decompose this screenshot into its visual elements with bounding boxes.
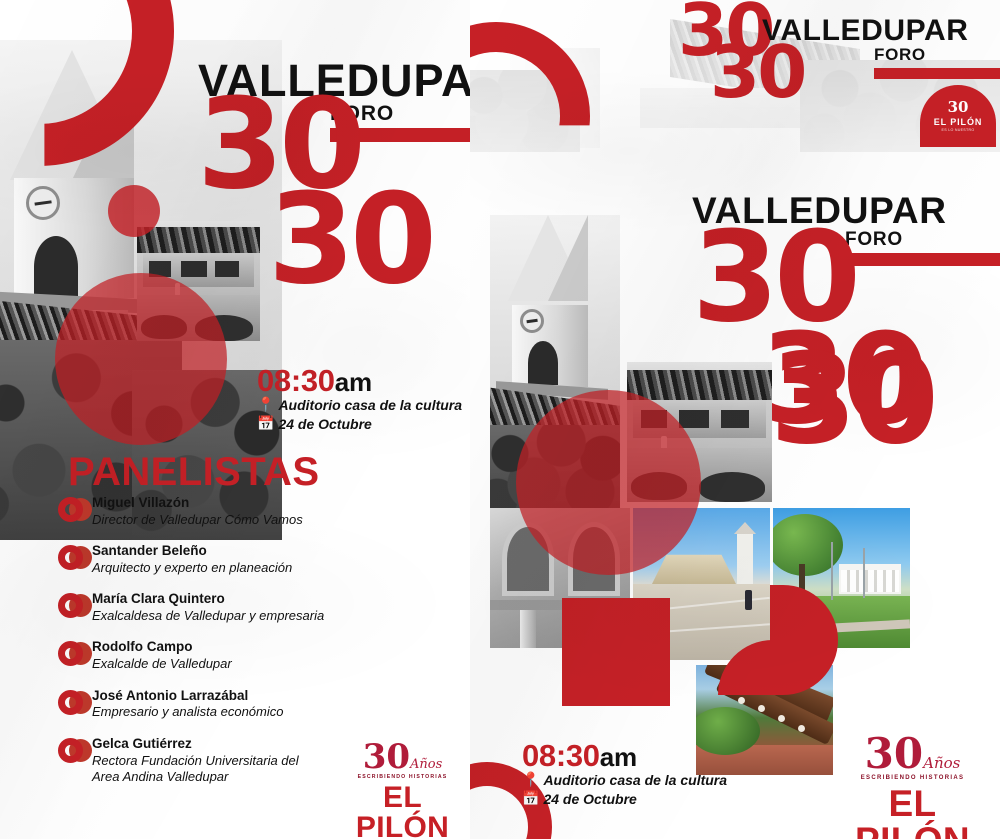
right-anniversary-collage: 30 xyxy=(770,350,934,450)
tower-window-arch xyxy=(34,236,78,298)
anniversary-number-bottom: 30 xyxy=(268,190,432,290)
right-el-pilon-logo: 30Años ESCRIBIENDO HISTORIAS EL PILÓN ES… xyxy=(840,735,985,839)
left-poster-panel: VALLEDUPAR FORO 30 30 08:30am 📍 Auditori… xyxy=(0,0,470,839)
banner-foro-label: FORO xyxy=(874,46,926,63)
event-venue-row: 📍 Auditorio casa de la cultura xyxy=(257,396,462,413)
right-event-time: 08:30am xyxy=(522,738,637,774)
bullet-ring-icon xyxy=(58,593,92,619)
pilon-hole xyxy=(798,725,805,732)
tower-clock-face xyxy=(26,186,60,220)
plaza-pedestrian xyxy=(745,590,752,610)
right-event-venue: Auditorio casa de la cultura xyxy=(543,772,727,788)
el-pilon-logo: 30Años ESCRIBIENDO HISTORIAS EL PILÓN ES… xyxy=(345,742,460,839)
event-time-suffix: am xyxy=(335,367,372,397)
panelist-role: Exalcaldesa de Valledupar y empresaria xyxy=(92,608,458,624)
bullet-ring-icon xyxy=(58,641,92,667)
market-awning xyxy=(137,227,260,253)
top-banner: 30 VALLEDUPAR 30 FORO 30 EL PILÓN ES LO … xyxy=(470,0,1000,152)
event-venue: Auditorio casa de la cultura xyxy=(278,397,462,413)
plaza-pavilion-roof xyxy=(651,552,737,586)
pilon-hole xyxy=(738,697,745,704)
collage-red-square xyxy=(562,598,670,706)
panelist-name: Rodolfo Campo xyxy=(92,639,458,656)
pilon-hole xyxy=(778,715,785,722)
banner-anniversary-bottom: 30 xyxy=(710,44,804,102)
park-colonnade xyxy=(841,570,899,592)
event-date-row: 📅 24 de Octubre xyxy=(257,415,372,432)
market-window xyxy=(215,261,239,277)
bullet-ring-icon xyxy=(58,545,92,571)
right-poster-panel: 30 VALLEDUPAR 30 FORO 30 EL PILÓN ES LO … xyxy=(470,0,1000,839)
bullet-ring-icon xyxy=(58,497,92,523)
list-item: Santander Beleño Arquitecto y experto en… xyxy=(58,543,458,576)
poster-canvas: VALLEDUPAR FORO 30 30 08:30am 📍 Auditori… xyxy=(0,0,1000,839)
logo-anniversary-suffix: Años xyxy=(410,757,442,772)
large-red-overlay-circle xyxy=(55,273,227,445)
badge-anniversary: 30 xyxy=(948,100,969,115)
calendar-icon: 📅 xyxy=(522,790,539,807)
badge-tagline: ES LO NUESTRO xyxy=(942,128,975,132)
panelist-name: Santander Beleño xyxy=(92,543,458,560)
right-event-time-suffix: am xyxy=(600,742,637,772)
event-time-value: 08:30 xyxy=(257,363,335,398)
location-pin-icon: 📍 xyxy=(257,396,274,413)
right-event-venue-row: 📍 Auditorio casa de la cultura xyxy=(522,771,727,788)
panelist-role: Empresario y analista económico xyxy=(92,704,458,720)
bullet-ring-icon xyxy=(58,690,92,716)
logo-name: EL PILÓN xyxy=(345,783,460,839)
park-light-pole xyxy=(863,548,865,598)
event-time: 08:30am xyxy=(257,363,372,399)
location-pin-icon: 📍 xyxy=(522,771,539,788)
logo-anniversary: 30Años xyxy=(345,742,460,773)
panelist-role: Rectora Fundación Universitaria del Area… xyxy=(92,753,307,786)
market-window xyxy=(181,261,207,277)
collage-red-overlay-circle xyxy=(516,390,701,575)
pilon-hole xyxy=(758,705,765,712)
panelist-name: José Antonio Larrazábal xyxy=(92,688,458,705)
banner-foro-bar xyxy=(874,68,1000,79)
right-event-date-row: 📅 24 de Octubre xyxy=(522,790,637,807)
right-event-time-value: 08:30 xyxy=(522,738,600,773)
right-event-date: 24 de Octubre xyxy=(543,791,636,807)
right-logo-anniversary: 30Años xyxy=(840,735,985,773)
panelist-role: Exalcalde de Valledupar xyxy=(92,656,458,672)
badge-name: EL PILÓN xyxy=(934,117,983,127)
plaza-church-tower xyxy=(737,532,753,584)
calendar-icon: 📅 xyxy=(257,415,274,432)
panelist-name: María Clara Quintero xyxy=(92,591,458,608)
right-logo-anniversary-suffix: Años xyxy=(923,754,960,772)
right-logo-name: EL PILÓN xyxy=(840,785,985,839)
panelists-heading: PANELISTAS xyxy=(68,452,319,492)
list-item: José Antonio Larrazábal Empresario y ana… xyxy=(58,688,458,721)
bullet-ring-icon xyxy=(58,738,92,764)
list-item: Rodolfo Campo Exalcalde de Valledupar xyxy=(58,639,458,672)
right-foro-bar xyxy=(845,253,1000,266)
list-item: María Clara Quintero Exalcaldesa de Vall… xyxy=(58,591,458,624)
panelist-name: Miguel Villazón xyxy=(92,495,458,512)
list-item: Miguel Villazón Director de Valledupar C… xyxy=(58,495,458,528)
panelist-role: Director de Valledupar Cómo Vamos xyxy=(92,512,458,528)
small-red-circle xyxy=(108,185,160,237)
stone-column xyxy=(520,610,536,648)
panelist-role: Arquitecto y experto en planeación xyxy=(92,560,458,576)
park-light-pole xyxy=(831,542,833,600)
event-date: 24 de Octubre xyxy=(278,416,371,432)
